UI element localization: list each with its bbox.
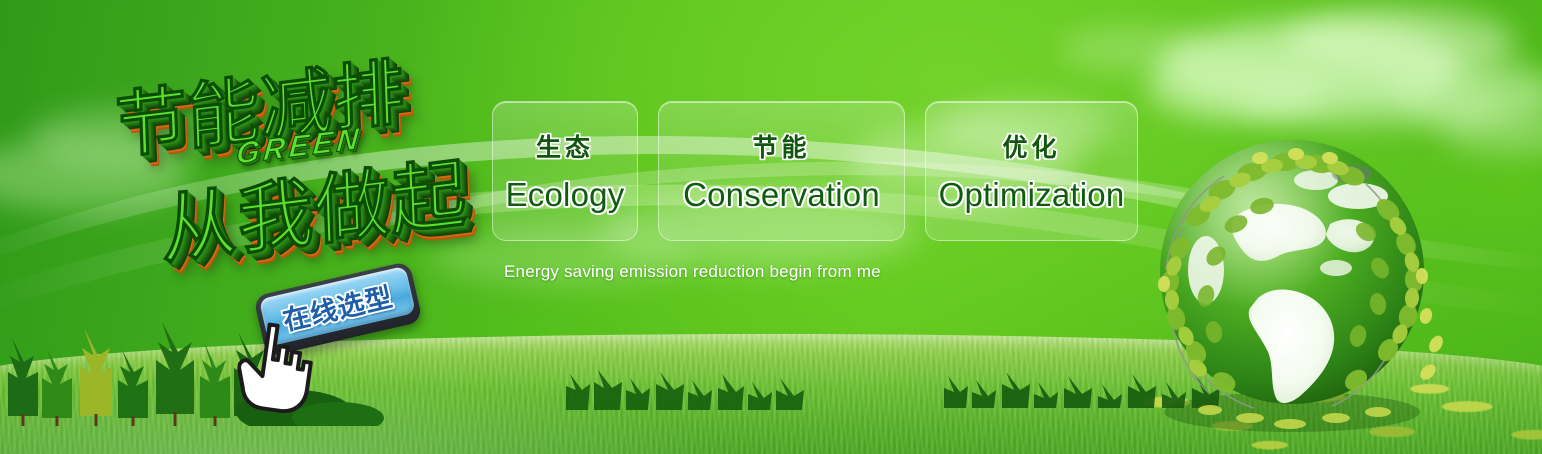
hand-pointer-icon (232, 315, 322, 417)
banner-tagline: Energy saving emission reduction begin f… (504, 262, 881, 282)
feature-card-ecology[interactable]: 生态 Ecology (492, 101, 638, 241)
feature-card-cn-label: 生态 (536, 128, 594, 164)
feature-card-cn-label: 优化 (1002, 128, 1060, 164)
feature-card-en-label: Conservation (683, 176, 880, 214)
feature-card-conservation[interactable]: 节能 Conservation (658, 101, 905, 241)
feature-card-en-label: Ecology (506, 176, 625, 214)
leafy-globe-icon (1140, 120, 1460, 440)
feature-card-en-label: Optimization (939, 176, 1125, 214)
hero-3d-headline: 节能减排 GREEN 从我做起 (96, 38, 496, 270)
feature-card-optimization[interactable]: 优化 Optimization (925, 101, 1138, 241)
eco-promo-banner: 节能减排 GREEN 从我做起 在线选型 生态 Ecology 节能 Conse… (0, 0, 1542, 454)
feature-card-cn-label: 节能 (752, 128, 810, 164)
feature-card-list: 生态 Ecology 节能 Conservation 优化 Optimizati… (492, 101, 1138, 241)
